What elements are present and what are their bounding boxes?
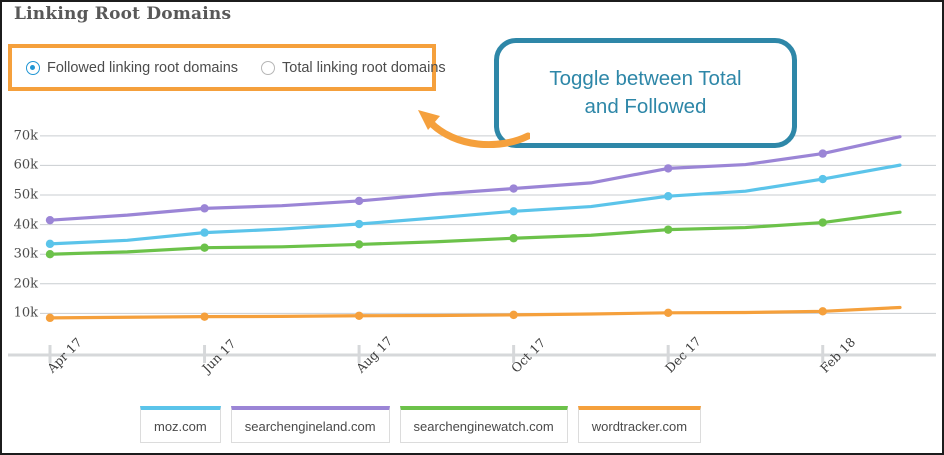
legend-label: wordtracker.com: [592, 419, 687, 434]
legend-item[interactable]: searchengineland.com: [231, 406, 390, 443]
y-axis-tick-label: 40k: [4, 217, 38, 232]
y-axis-tick-label: 20k: [4, 276, 38, 291]
legend-item[interactable]: searchenginewatch.com: [400, 406, 568, 443]
line-chart: 10k20k30k40k50k60k70k Apr 17Jun 17Aug 17…: [2, 98, 942, 453]
legend-item[interactable]: wordtracker.com: [578, 406, 701, 443]
callout-line-2: and Followed: [585, 93, 707, 121]
y-axis-tick-label: 70k: [4, 128, 38, 143]
legend-item[interactable]: moz.com: [140, 406, 221, 443]
radio-button-icon[interactable]: [26, 61, 40, 75]
page-title: Linking Root Domains: [14, 4, 231, 24]
radio-option-followed[interactable]: Followed linking root domains: [26, 60, 238, 76]
y-axis-tick-label: 50k: [4, 188, 38, 203]
legend-label: moz.com: [154, 419, 207, 434]
y-axis-tick-label: 10k: [4, 306, 38, 321]
linking-domains-toggle-group[interactable]: Followed linking root domains Total link…: [8, 44, 436, 91]
chart-panel: Linking Root Domains Followed linking ro…: [0, 0, 944, 455]
legend-label: searchenginewatch.com: [414, 419, 554, 434]
chart-legend: moz.com searchengineland.com searchengin…: [140, 406, 701, 443]
radio-option-total[interactable]: Total linking root domains: [261, 60, 446, 76]
plot-area: [2, 98, 942, 453]
callout-bubble: Toggle between Total and Followed: [494, 38, 797, 148]
radio-label-total: Total linking root domains: [282, 60, 446, 76]
radio-button-icon[interactable]: [261, 61, 275, 75]
radio-label-followed: Followed linking root domains: [47, 60, 238, 76]
y-axis-tick-label: 30k: [4, 247, 38, 262]
y-axis-tick-label: 60k: [4, 158, 38, 173]
legend-label: searchengineland.com: [245, 419, 376, 434]
callout-line-1: Toggle between Total: [549, 65, 741, 93]
